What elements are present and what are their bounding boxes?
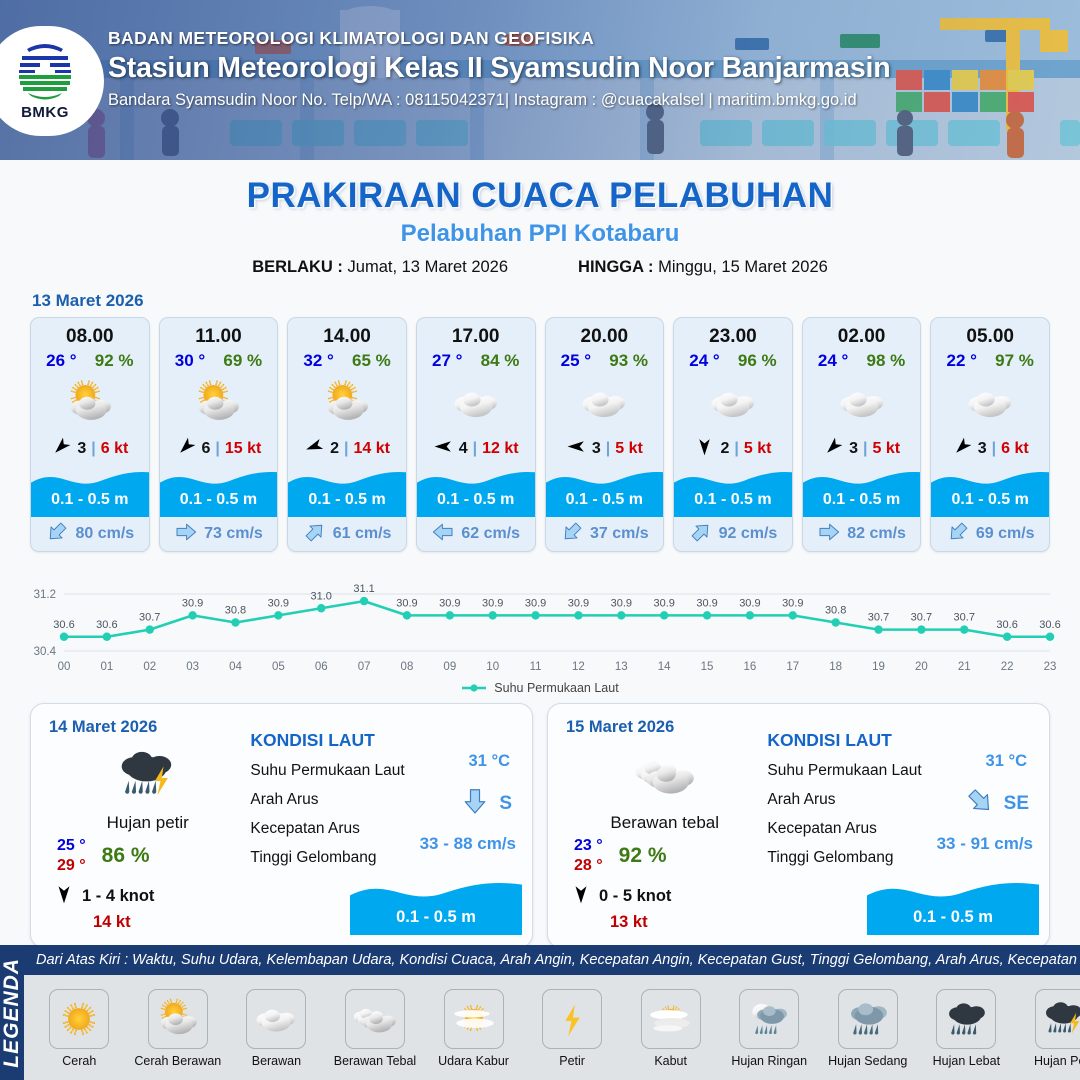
daily-forecast-panels: 14 Maret 2026 Hujan petir 25 ° 29 ° 86 %… (0, 695, 1080, 948)
card-wave-height: 0.1 - 0.5 m (546, 491, 664, 509)
svg-text:30.7: 30.7 (868, 612, 889, 624)
card-weather-icon (31, 373, 149, 433)
hourly-card: 14.00 32 ° 65 % 2 | 14 kt 0.1 - 0.5 m 61… (287, 317, 407, 552)
card-gust-speed: 6 kt (101, 440, 129, 458)
svg-text:16: 16 (744, 661, 757, 673)
hourly-card: 23.00 24 ° 96 % 2 | 5 kt 0.1 - 0.5 m 92 … (673, 317, 793, 552)
card-wind-speed: 6 (202, 440, 211, 458)
organization-name: BADAN METEOROLOGI KLIMATOLOGI DAN GEOFIS… (108, 28, 1008, 49)
card-current-speed: 69 cm/s (976, 525, 1035, 543)
svg-text:30.6: 30.6 (53, 619, 74, 631)
card-current-row: 69 cm/s (931, 517, 1049, 551)
valid-until-label: HINGGA : (578, 258, 653, 276)
svg-text:30.9: 30.9 (653, 597, 674, 609)
daily-sea-conditions: KONDISI LAUT Suhu Permukaan Laut Arah Ar… (763, 704, 1049, 947)
svg-text:05: 05 (272, 661, 285, 673)
legend-item-label: Berawan Tebal (334, 1054, 416, 1068)
daily-gust: 13 kt (566, 913, 763, 932)
card-wave-height: 0.1 - 0.5 m (803, 491, 921, 509)
card-temp-humidity: 27 ° 84 % (417, 348, 535, 371)
card-temperature: 26 ° (46, 351, 76, 371)
card-temperature: 27 ° (432, 351, 462, 371)
current-direction-arrow-icon (946, 520, 970, 549)
svg-text:10: 10 (486, 661, 499, 673)
legend-icon-kabut (641, 989, 701, 1049)
daily-weather-icon (566, 739, 763, 811)
card-wave-band: 0.1 - 0.5 m (674, 465, 792, 517)
legend-item: Hujan Petir (1019, 989, 1080, 1068)
separator: | (91, 440, 95, 458)
wind-direction-arrow-icon (952, 436, 973, 462)
card-gust-speed: 6 kt (1001, 440, 1029, 458)
sst-chart-svg: 31.230.430.60030.60130.70230.90330.80430… (16, 564, 1064, 679)
svg-text:11: 11 (530, 661, 542, 673)
card-temp-humidity: 30 ° 69 % (160, 348, 278, 371)
separator: | (344, 440, 348, 458)
legend-bar: LEGENDA Dari Atas Kiri : Waktu, Suhu Uda… (0, 945, 1080, 1080)
svg-text:23: 23 (1044, 661, 1057, 673)
legend-item-label: Udara Kabur (438, 1054, 509, 1068)
card-gust-speed: 5 kt (744, 440, 772, 458)
daily-wind-range: 1 - 4 knot (82, 887, 154, 906)
card-temp-humidity: 22 ° 97 % (931, 348, 1049, 371)
card-humidity: 93 % (609, 351, 648, 371)
card-time: 08.00 (31, 318, 149, 348)
legend-icon-hujan-petir (1035, 989, 1080, 1049)
legend-icon-cerah-berawan (148, 989, 208, 1049)
card-humidity: 65 % (352, 351, 391, 371)
legend-item-label: Berawan (252, 1054, 301, 1068)
daily-wind-direction-arrow-icon (53, 883, 75, 910)
legend-icon-hujan-ringan (739, 989, 799, 1049)
card-weather-icon (931, 373, 1049, 433)
card-wave-band: 0.1 - 0.5 m (417, 465, 535, 517)
daily-wave-band: 0.1 - 0.5 m (350, 875, 522, 935)
svg-text:14: 14 (658, 661, 671, 673)
daily-wind-range: 0 - 5 knot (599, 887, 671, 906)
page-header: BMKG BADAN METEOROLOGI KLIMATOLOGI DAN G… (0, 0, 1080, 160)
card-wave-height: 0.1 - 0.5 m (674, 491, 792, 509)
card-temp-humidity: 26 ° 92 % (31, 348, 149, 371)
legend-side-title: LEGENDA (0, 945, 24, 1080)
card-gust-speed: 12 kt (482, 440, 518, 458)
card-wave-band: 0.1 - 0.5 m (931, 465, 1049, 517)
svg-text:13: 13 (615, 661, 628, 673)
separator: | (473, 440, 477, 458)
card-wave-band: 0.1 - 0.5 m (546, 465, 664, 517)
legend-icon-petir (542, 989, 602, 1049)
card-wind-speed: 3 (77, 440, 86, 458)
card-time: 05.00 (931, 318, 1049, 348)
legend-item: Hujan Ringan (723, 989, 815, 1068)
card-weather-icon (674, 373, 792, 433)
page-subtitle: Pelabuhan PPI Kotabaru (0, 220, 1080, 248)
daily-wave-height-value: 0.1 - 0.5 m (867, 908, 1039, 927)
bmkg-emblem-icon (15, 41, 75, 103)
svg-text:30.9: 30.9 (739, 597, 760, 609)
card-temp-humidity: 25 ° 93 % (546, 348, 664, 371)
svg-text:30.9: 30.9 (611, 597, 632, 609)
card-current-speed: 82 cm/s (847, 525, 906, 543)
daily-forecast-panel: 14 Maret 2026 Hujan petir 25 ° 29 ° 86 %… (30, 703, 533, 948)
svg-text:21: 21 (958, 661, 971, 673)
card-current-row: 92 cm/s (674, 517, 792, 551)
wind-direction-arrow-icon (433, 436, 454, 462)
card-temp-humidity: 24 ° 96 % (674, 348, 792, 371)
svg-text:00: 00 (58, 661, 71, 673)
sea-conditions-title: KONDISI LAUT (767, 730, 1035, 751)
card-time: 02.00 (803, 318, 921, 348)
legend-item: Cerah (33, 989, 125, 1068)
separator: | (734, 440, 738, 458)
sea-conditions-title: KONDISI LAUT (250, 730, 518, 751)
daily-sea-conditions: KONDISI LAUT Suhu Permukaan Laut Arah Ar… (246, 704, 532, 947)
card-wind-row: 2 | 14 kt (288, 433, 406, 465)
legend-item: Kabut (625, 989, 717, 1068)
daily-left: 14 Maret 2026 Hujan petir 25 ° 29 ° 86 %… (31, 704, 246, 947)
daily-temps: 23 ° 28 ° 92 % (566, 837, 763, 875)
current-direction-value: S (460, 786, 512, 821)
svg-text:03: 03 (186, 661, 199, 673)
card-gust-speed: 15 kt (225, 440, 261, 458)
valid-until: HINGGA : Minggu, 15 Maret 2026 (578, 258, 828, 277)
card-wave-height: 0.1 - 0.5 m (931, 491, 1049, 509)
card-humidity: 84 % (481, 351, 520, 371)
svg-text:06: 06 (315, 661, 328, 673)
legend-item-label: Hujan Lebat (933, 1054, 1000, 1068)
svg-text:30.9: 30.9 (568, 597, 589, 609)
hourly-card: 05.00 22 ° 97 % 3 | 6 kt 0.1 - 0.5 m 69 … (930, 317, 1050, 552)
card-weather-icon (546, 373, 664, 433)
card-temperature: 22 ° (946, 351, 976, 371)
separator: | (215, 440, 219, 458)
svg-text:30.9: 30.9 (396, 597, 417, 609)
wind-direction-arrow-icon (304, 436, 325, 462)
daily-wind-row: 0 - 5 knot (566, 883, 763, 910)
card-weather-icon (288, 373, 406, 433)
card-wave-height: 0.1 - 0.5 m (417, 491, 535, 509)
daily-current-arrow-icon (460, 786, 490, 821)
legend-items: Cerah Cerah Berawan Berawan Berawan Teba… (24, 975, 1080, 1080)
legend-item: Hujan Lebat (920, 989, 1012, 1068)
page-title: PRAKIRAAN CUACA PELABUHAN (0, 176, 1080, 216)
sst-chart: 31.230.430.60030.60130.70230.90330.80430… (16, 564, 1064, 679)
svg-text:31.1: 31.1 (353, 583, 374, 595)
svg-text:30.9: 30.9 (696, 597, 717, 609)
svg-text:08: 08 (401, 661, 414, 673)
svg-text:31.0: 31.0 (311, 590, 332, 602)
svg-text:12: 12 (572, 661, 585, 673)
separator: | (863, 440, 867, 458)
daily-wind-row: 1 - 4 knot (49, 883, 246, 910)
card-wind-row: 3 | 6 kt (31, 433, 149, 465)
svg-text:09: 09 (443, 661, 456, 673)
legend-icon-hujan-lebat (936, 989, 996, 1049)
daily-temp-max: 29 ° (57, 857, 86, 875)
sst-value: 31 °C (469, 752, 510, 771)
card-current-row: 61 cm/s (288, 517, 406, 551)
svg-text:22: 22 (1001, 661, 1014, 673)
current-speed-value: 33 - 91 cm/s (937, 834, 1033, 854)
current-direction-arrow-icon (174, 520, 198, 549)
card-wind-row: 3 | 6 kt (931, 433, 1049, 465)
card-current-speed: 92 cm/s (719, 525, 778, 543)
card-current-speed: 61 cm/s (333, 525, 392, 543)
legend-item-label: Cerah Berawan (134, 1054, 221, 1068)
daily-temp-min: 23 ° (574, 837, 603, 855)
legend-item-label: Cerah (62, 1054, 96, 1068)
station-name: Stasiun Meteorologi Kelas II Syamsudin N… (108, 52, 1008, 85)
card-temp-humidity: 24 ° 98 % (803, 348, 921, 371)
card-wave-band: 0.1 - 0.5 m (31, 465, 149, 517)
daily-humidity: 92 % (619, 844, 667, 868)
svg-text:07: 07 (358, 661, 371, 673)
card-wind-row: 3 | 5 kt (546, 433, 664, 465)
card-wind-row: 4 | 12 kt (417, 433, 535, 465)
svg-text:30.9: 30.9 (525, 597, 546, 609)
separator: | (992, 440, 996, 458)
svg-text:30.9: 30.9 (439, 597, 460, 609)
wind-direction-arrow-icon (694, 436, 715, 462)
legend-item-label: Hujan Sedang (828, 1054, 907, 1068)
valid-from-value: Jumat, 13 Maret 2026 (348, 258, 509, 276)
current-direction-arrow-icon (431, 520, 455, 549)
legend-item-label: Hujan Petir (1034, 1054, 1080, 1068)
svg-text:20: 20 (915, 661, 928, 673)
daily-humidity: 86 % (102, 844, 150, 868)
bmkg-logo-text: BMKG (21, 104, 69, 121)
card-wind-row: 3 | 5 kt (803, 433, 921, 465)
current-direction-text: SE (1004, 793, 1029, 815)
legend-item: Berawan Tebal (329, 989, 421, 1068)
card-current-speed: 62 cm/s (461, 525, 520, 543)
daily-wave-band: 0.1 - 0.5 m (867, 875, 1039, 935)
card-temperature: 32 ° (303, 351, 333, 371)
legend-body: Dari Atas Kiri : Waktu, Suhu Udara, Kele… (24, 945, 1080, 1080)
sst-value: 31 °C (986, 752, 1027, 771)
card-time: 20.00 (546, 318, 664, 348)
valid-until-value: Minggu, 15 Maret 2026 (658, 258, 828, 276)
hourly-card: 02.00 24 ° 98 % 3 | 5 kt 0.1 - 0.5 m 82 … (802, 317, 922, 552)
current-direction-arrow-icon (45, 520, 69, 549)
legend-icon-hujan-sedang (838, 989, 898, 1049)
svg-text:17: 17 (786, 661, 799, 673)
card-current-row: 82 cm/s (803, 517, 921, 551)
svg-text:30.6: 30.6 (96, 619, 117, 631)
svg-text:30.9: 30.9 (482, 597, 503, 609)
validity-row: BERLAKU : Jumat, 13 Maret 2026 HINGGA : … (0, 258, 1080, 277)
daily-temp-min: 25 ° (57, 837, 86, 855)
svg-text:30.4: 30.4 (34, 646, 57, 658)
svg-text:01: 01 (100, 661, 113, 673)
separator: | (606, 440, 610, 458)
svg-text:18: 18 (829, 661, 842, 673)
svg-text:19: 19 (872, 661, 885, 673)
card-wind-speed: 4 (459, 440, 468, 458)
daily-gust: 14 kt (49, 913, 246, 932)
card-gust-speed: 5 kt (872, 440, 900, 458)
svg-text:15: 15 (701, 661, 714, 673)
svg-text:30.8: 30.8 (825, 605, 846, 617)
current-direction-arrow-icon (689, 520, 713, 549)
card-wave-band: 0.1 - 0.5 m (803, 465, 921, 517)
card-wave-height: 0.1 - 0.5 m (288, 491, 406, 509)
card-gust-speed: 14 kt (354, 440, 390, 458)
legend-item: Berawan (230, 989, 322, 1068)
daily-temp-range: 23 ° 28 ° (574, 837, 603, 875)
card-gust-speed: 5 kt (615, 440, 643, 458)
card-humidity: 97 % (995, 351, 1034, 371)
legend-item-label: Petir (559, 1054, 585, 1068)
wind-direction-arrow-icon (823, 436, 844, 462)
card-wave-band: 0.1 - 0.5 m (288, 465, 406, 517)
card-wind-speed: 2 (330, 440, 339, 458)
daily-date: 14 Maret 2026 (49, 718, 246, 737)
card-wave-band: 0.1 - 0.5 m (160, 465, 278, 517)
daily-temps: 25 ° 29 ° 86 % (49, 837, 246, 875)
svg-text:30.7: 30.7 (139, 612, 160, 624)
legend-item: Udara Kabur (428, 989, 520, 1068)
wind-direction-arrow-icon (51, 436, 72, 462)
hourly-date-label: 13 Maret 2026 (32, 291, 1080, 311)
legend-item-label: Kabut (654, 1054, 687, 1068)
card-humidity: 92 % (95, 351, 134, 371)
daily-weather-icon (49, 739, 246, 811)
svg-text:30.9: 30.9 (182, 597, 203, 609)
card-wind-row: 2 | 5 kt (674, 433, 792, 465)
wind-direction-arrow-icon (176, 436, 197, 462)
card-current-row: 80 cm/s (31, 517, 149, 551)
legend-side-title-text: LEGENDA (0, 958, 24, 1068)
card-current-row: 37 cm/s (546, 517, 664, 551)
svg-text:30.8: 30.8 (225, 605, 246, 617)
svg-text:30.6: 30.6 (1039, 619, 1060, 631)
card-wind-speed: 3 (849, 440, 858, 458)
chart-legend: Suhu Permukaan Laut (0, 681, 1080, 695)
current-direction-arrow-icon (560, 520, 584, 549)
svg-text:04: 04 (229, 661, 242, 673)
card-weather-icon (417, 373, 535, 433)
svg-text:31.2: 31.2 (34, 589, 56, 601)
daily-temp-range: 25 ° 29 ° (57, 837, 86, 875)
card-current-speed: 73 cm/s (204, 525, 263, 543)
current-direction-value: SE (965, 786, 1029, 821)
legend-item: Cerah Berawan (132, 989, 224, 1068)
current-direction-arrow-icon (303, 520, 327, 549)
card-wave-height: 0.1 - 0.5 m (31, 491, 149, 509)
daily-current-arrow-icon (965, 786, 995, 821)
card-weather-icon (803, 373, 921, 433)
card-wind-speed: 3 (592, 440, 601, 458)
valid-from-label: BERLAKU : (252, 258, 343, 276)
card-current-row: 62 cm/s (417, 517, 535, 551)
card-humidity: 69 % (223, 351, 262, 371)
current-speed-value: 33 - 88 cm/s (420, 834, 516, 854)
daily-left: 15 Maret 2026 Berawan tebal 23 ° 28 ° 92… (548, 704, 763, 947)
card-temperature: 24 ° (689, 351, 719, 371)
valid-from: BERLAKU : Jumat, 13 Maret 2026 (252, 258, 508, 277)
card-time: 23.00 (674, 318, 792, 348)
hourly-card: 20.00 25 ° 93 % 3 | 5 kt 0.1 - 0.5 m 37 … (545, 317, 665, 552)
card-temperature: 25 ° (561, 351, 591, 371)
card-current-speed: 80 cm/s (75, 525, 134, 543)
card-temperature: 30 ° (175, 351, 205, 371)
card-wind-row: 6 | 15 kt (160, 433, 278, 465)
current-direction-text: S (499, 793, 512, 815)
current-direction-arrow-icon (817, 520, 841, 549)
legend-icon-berawan-tebal (345, 989, 405, 1049)
svg-text:30.7: 30.7 (911, 612, 932, 624)
legend-item: Petir (526, 989, 618, 1068)
card-wind-speed: 3 (978, 440, 987, 458)
svg-text:30.6: 30.6 (996, 619, 1017, 631)
hourly-card: 17.00 27 ° 84 % 4 | 12 kt 0.1 - 0.5 m 62… (416, 317, 536, 552)
contact-info: Bandara Syamsudin Noor No. Telp/WA : 081… (108, 91, 1008, 110)
chart-legend-label: Suhu Permukaan Laut (494, 681, 618, 695)
daily-temp-max: 28 ° (574, 857, 603, 875)
daily-condition: Berawan tebal (566, 813, 763, 833)
svg-text:30.9: 30.9 (782, 597, 803, 609)
svg-text:02: 02 (143, 661, 156, 673)
card-current-row: 73 cm/s (160, 517, 278, 551)
daily-wind-direction-arrow-icon (570, 883, 592, 910)
card-wave-height: 0.1 - 0.5 m (160, 491, 278, 509)
daily-condition: Hujan petir (49, 813, 246, 833)
hourly-forecast-cards: 08.00 26 ° 92 % 3 | 6 kt 0.1 - 0.5 m 80 … (0, 317, 1080, 552)
daily-wave-height-value: 0.1 - 0.5 m (350, 908, 522, 927)
card-time: 14.00 (288, 318, 406, 348)
legend-item: Hujan Sedang (822, 989, 914, 1068)
hourly-card: 08.00 26 ° 92 % 3 | 6 kt 0.1 - 0.5 m 80 … (30, 317, 150, 552)
daily-forecast-panel: 15 Maret 2026 Berawan tebal 23 ° 28 ° 92… (547, 703, 1050, 948)
card-current-speed: 37 cm/s (590, 525, 649, 543)
svg-text:30.7: 30.7 (954, 612, 975, 624)
card-time: 11.00 (160, 318, 278, 348)
legend-icon-udara-kabur (444, 989, 504, 1049)
card-humidity: 98 % (867, 351, 906, 371)
wind-direction-arrow-icon (566, 436, 587, 462)
chart-legend-marker-icon (461, 683, 487, 693)
card-wind-speed: 2 (720, 440, 729, 458)
card-temp-humidity: 32 ° 65 % (288, 348, 406, 371)
card-weather-icon (160, 373, 278, 433)
card-temperature: 24 ° (818, 351, 848, 371)
daily-date: 15 Maret 2026 (566, 718, 763, 737)
legend-icon-cerah (49, 989, 109, 1049)
legend-icon-berawan (246, 989, 306, 1049)
svg-text:30.9: 30.9 (268, 597, 289, 609)
header-text-block: BADAN METEOROLOGI KLIMATOLOGI DAN GEOFIS… (108, 28, 1008, 110)
legend-note: Dari Atas Kiri : Waktu, Suhu Udara, Kele… (24, 945, 1080, 975)
card-time: 17.00 (417, 318, 535, 348)
card-humidity: 96 % (738, 351, 777, 371)
hourly-card: 11.00 30 ° 69 % 6 | 15 kt 0.1 - 0.5 m 73… (159, 317, 279, 552)
legend-item-label: Hujan Ringan (731, 1054, 807, 1068)
